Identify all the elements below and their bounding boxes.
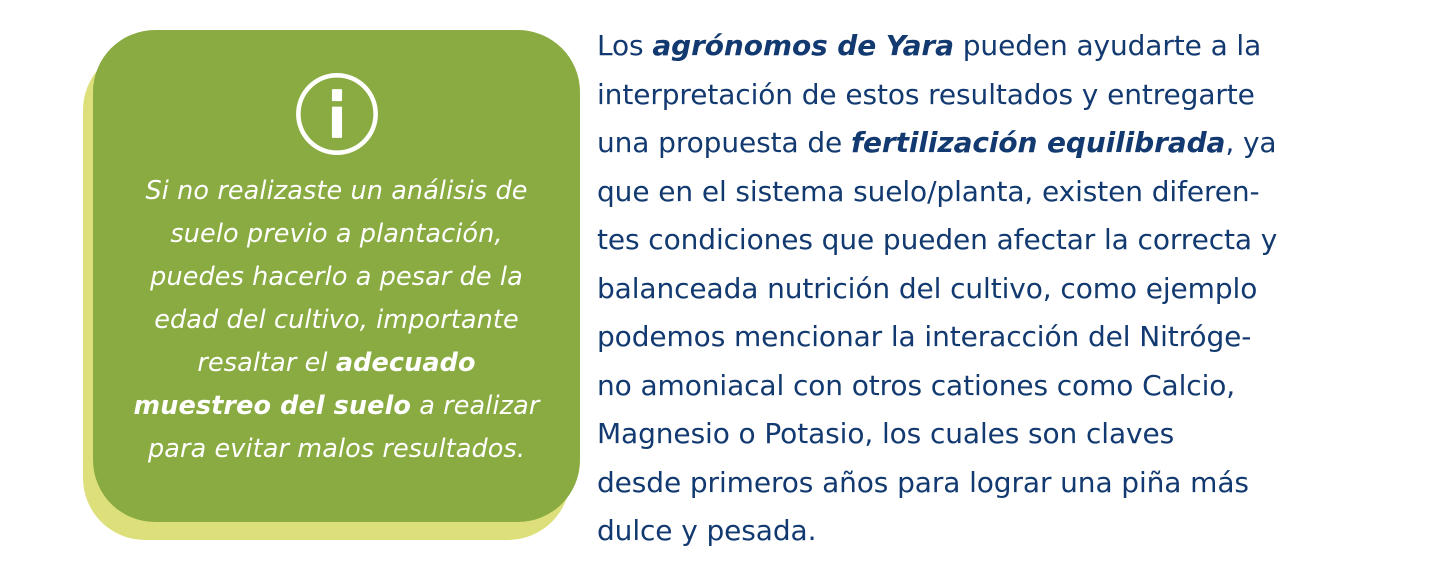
body-paragraph: Los agrónomos de Yara pueden ayudarte a … — [597, 22, 1409, 556]
callout-text: Si no realizaste un análisis de suelo pr… — [127, 170, 546, 471]
body-column: Los agrónomos de Yara pueden ayudarte a … — [597, 22, 1409, 556]
info-icon — [291, 68, 383, 160]
page-root: Si no realizaste un análisis de suelo pr… — [0, 0, 1435, 569]
callout-card: Si no realizaste un análisis de suelo pr… — [93, 30, 580, 522]
info-callout: Si no realizaste un análisis de suelo pr… — [83, 26, 588, 531]
